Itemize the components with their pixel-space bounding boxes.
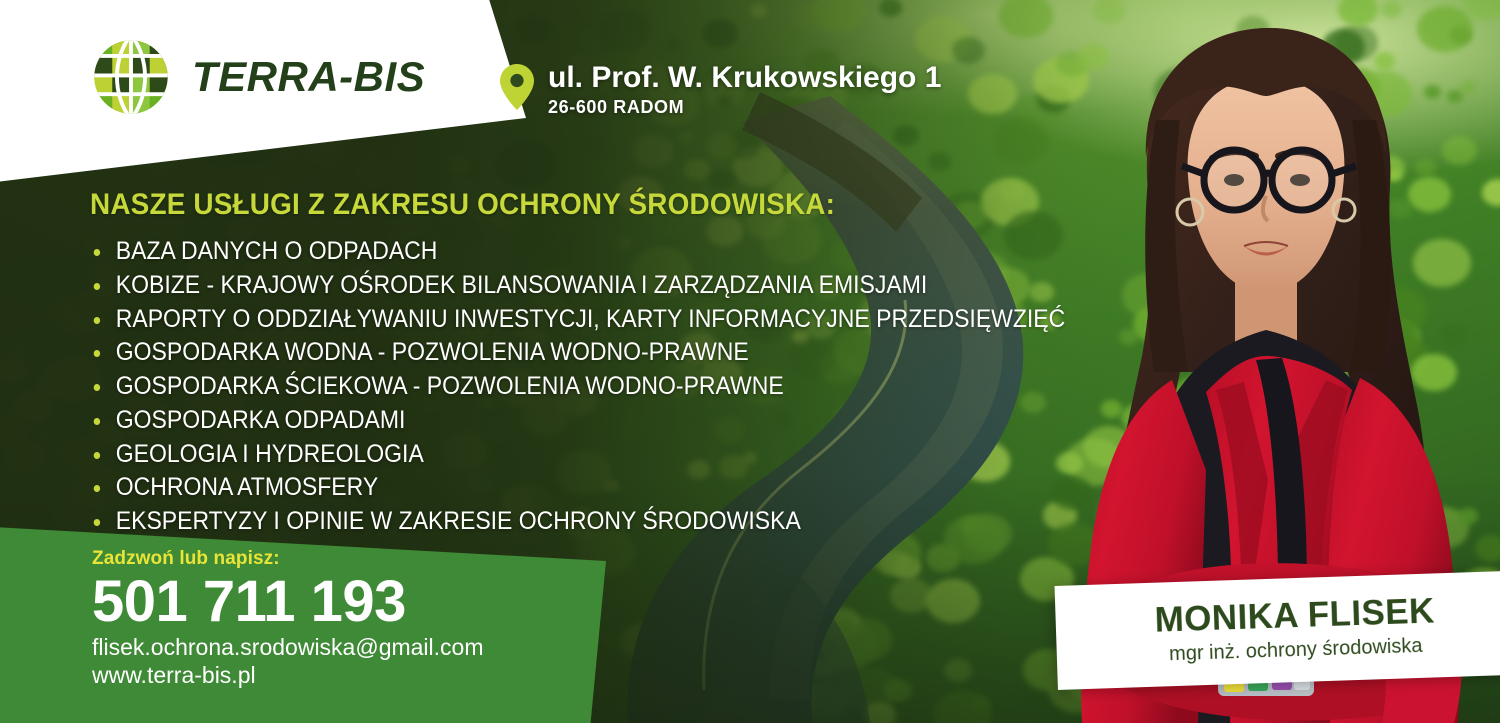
service-list-item: GEOLOGIA I HYDREOLOGIA bbox=[90, 441, 1010, 468]
person-role: mgr inż. ochrony środowiska bbox=[1169, 634, 1423, 666]
services-title: NASZE USŁUGI Z ZAKRESU OCHRONY ŚRODOWISK… bbox=[90, 188, 1020, 222]
service-list-item: RAPORTY O ODDZIAŁYWANIU INWESTYCJI, KART… bbox=[90, 306, 1010, 333]
service-list-item: BAZA DANYCH O ODPADACH bbox=[90, 238, 1010, 265]
advertising-banner: TERRA-BIS ul. Prof. W. Krukowskiego 1 26… bbox=[0, 0, 1500, 723]
call-label: Zadzwoń lub napisz: bbox=[92, 548, 484, 570]
person-name: MONIKA FLISEK bbox=[1154, 594, 1435, 640]
services-list: BAZA DANYCH O ODPADACHKOBIZE - KRAJOWY O… bbox=[90, 238, 1090, 535]
service-list-item: GOSPODARKA ODPADAMI bbox=[90, 407, 1010, 434]
location-pin-icon bbox=[500, 64, 534, 110]
phone-number[interactable]: 501 711 193 bbox=[92, 572, 484, 631]
brand-logo[interactable]: TERRA-BIS bbox=[92, 38, 425, 116]
email-address[interactable]: flisek.ochrona.srodowiska@gmail.com bbox=[92, 633, 484, 661]
website-url[interactable]: www.terra-bis.pl bbox=[92, 661, 484, 689]
service-list-item: KOBIZE - KRAJOWY OŚRODEK BILANSOWANIA I … bbox=[90, 272, 1010, 299]
brand-name: TERRA-BIS bbox=[192, 56, 425, 98]
service-list-item: OCHRONA ATMOSFERY bbox=[90, 474, 1010, 501]
globe-grid-icon bbox=[92, 38, 170, 116]
service-list-item: GOSPODARKA WODNA - POZWOLENIA WODNO-PRAW… bbox=[90, 339, 1010, 366]
address-street: ul. Prof. W. Krukowskiego 1 bbox=[548, 62, 941, 94]
contact-details: Zadzwoń lub napisz: 501 711 193 flisek.o… bbox=[92, 548, 484, 689]
service-list-item: EKSPERTYZY I OPINIE W ZAKRESIE OCHRONY Ś… bbox=[90, 508, 1010, 535]
service-list-item: GOSPODARKA ŚCIEKOWA - POZWOLENIA WODNO-P… bbox=[90, 373, 1010, 400]
services-section: NASZE USŁUGI Z ZAKRESU OCHRONY ŚRODOWISK… bbox=[90, 188, 1090, 542]
address-city: 26-600 RADOM bbox=[548, 97, 941, 118]
nameplate: MONIKA FLISEK mgr inż. ochrony środowisk… bbox=[1055, 571, 1500, 690]
address-block: ul. Prof. W. Krukowskiego 1 26-600 RADOM bbox=[500, 62, 941, 118]
